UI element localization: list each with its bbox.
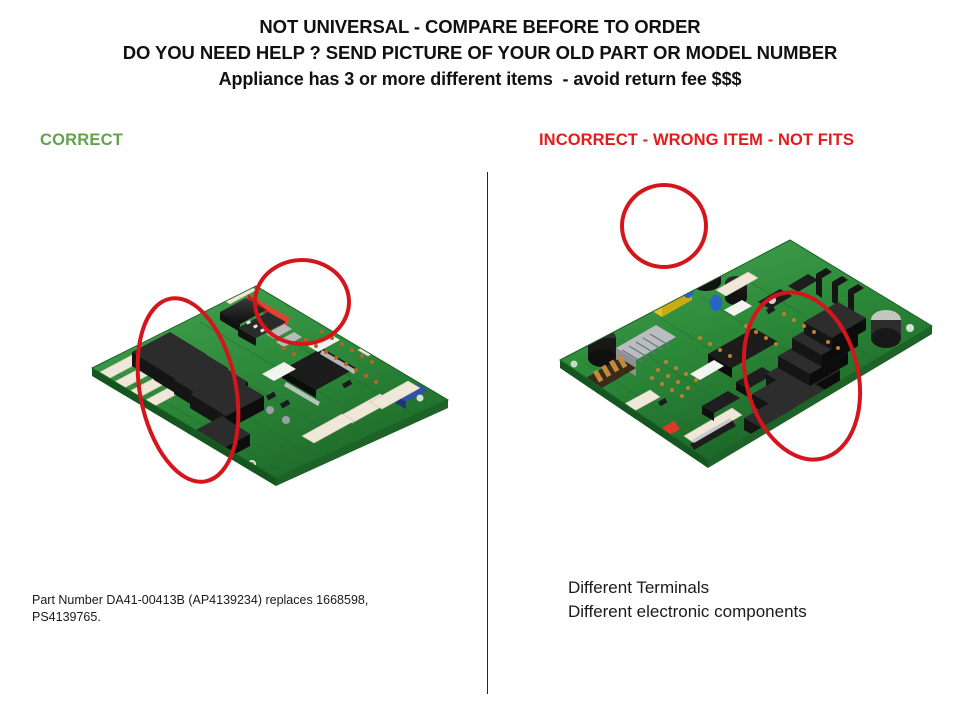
title-line-1: NOT UNIVERSAL - COMPARE BEFORE TO ORDER (0, 14, 960, 40)
incorrect-board-image-panel (540, 178, 940, 488)
incorrect-section-label: INCORRECT - WRONG ITEM - NOT FITS (539, 131, 854, 150)
correct-part-number-caption: Part Number DA41-00413B (AP4139234) repl… (32, 592, 432, 626)
incorrect-differences-caption: Different Terminals Different electronic… (568, 576, 908, 624)
correct-caption-line-1: Part Number DA41-00413B (AP4139234) repl… (32, 592, 432, 609)
correct-caption-line-2: PS4139765. (32, 609, 432, 626)
correct-board-image-panel (70, 250, 460, 500)
incorrect-caption-line-1: Different Terminals (568, 576, 908, 600)
header-title-block: NOT UNIVERSAL - COMPARE BEFORE TO ORDER … (0, 14, 960, 92)
correct-control-board-photo (70, 250, 460, 500)
vertical-divider (487, 172, 488, 694)
title-line-3: Appliance has 3 or more different items … (0, 66, 960, 92)
incorrect-caption-line-2: Different electronic components (568, 600, 908, 624)
incorrect-control-board-photo (540, 178, 940, 488)
correct-section-label: CORRECT (40, 131, 123, 150)
transformer-highlight (622, 185, 706, 267)
title-line-2: DO YOU NEED HELP ? SEND PICTURE OF YOUR … (0, 40, 960, 66)
